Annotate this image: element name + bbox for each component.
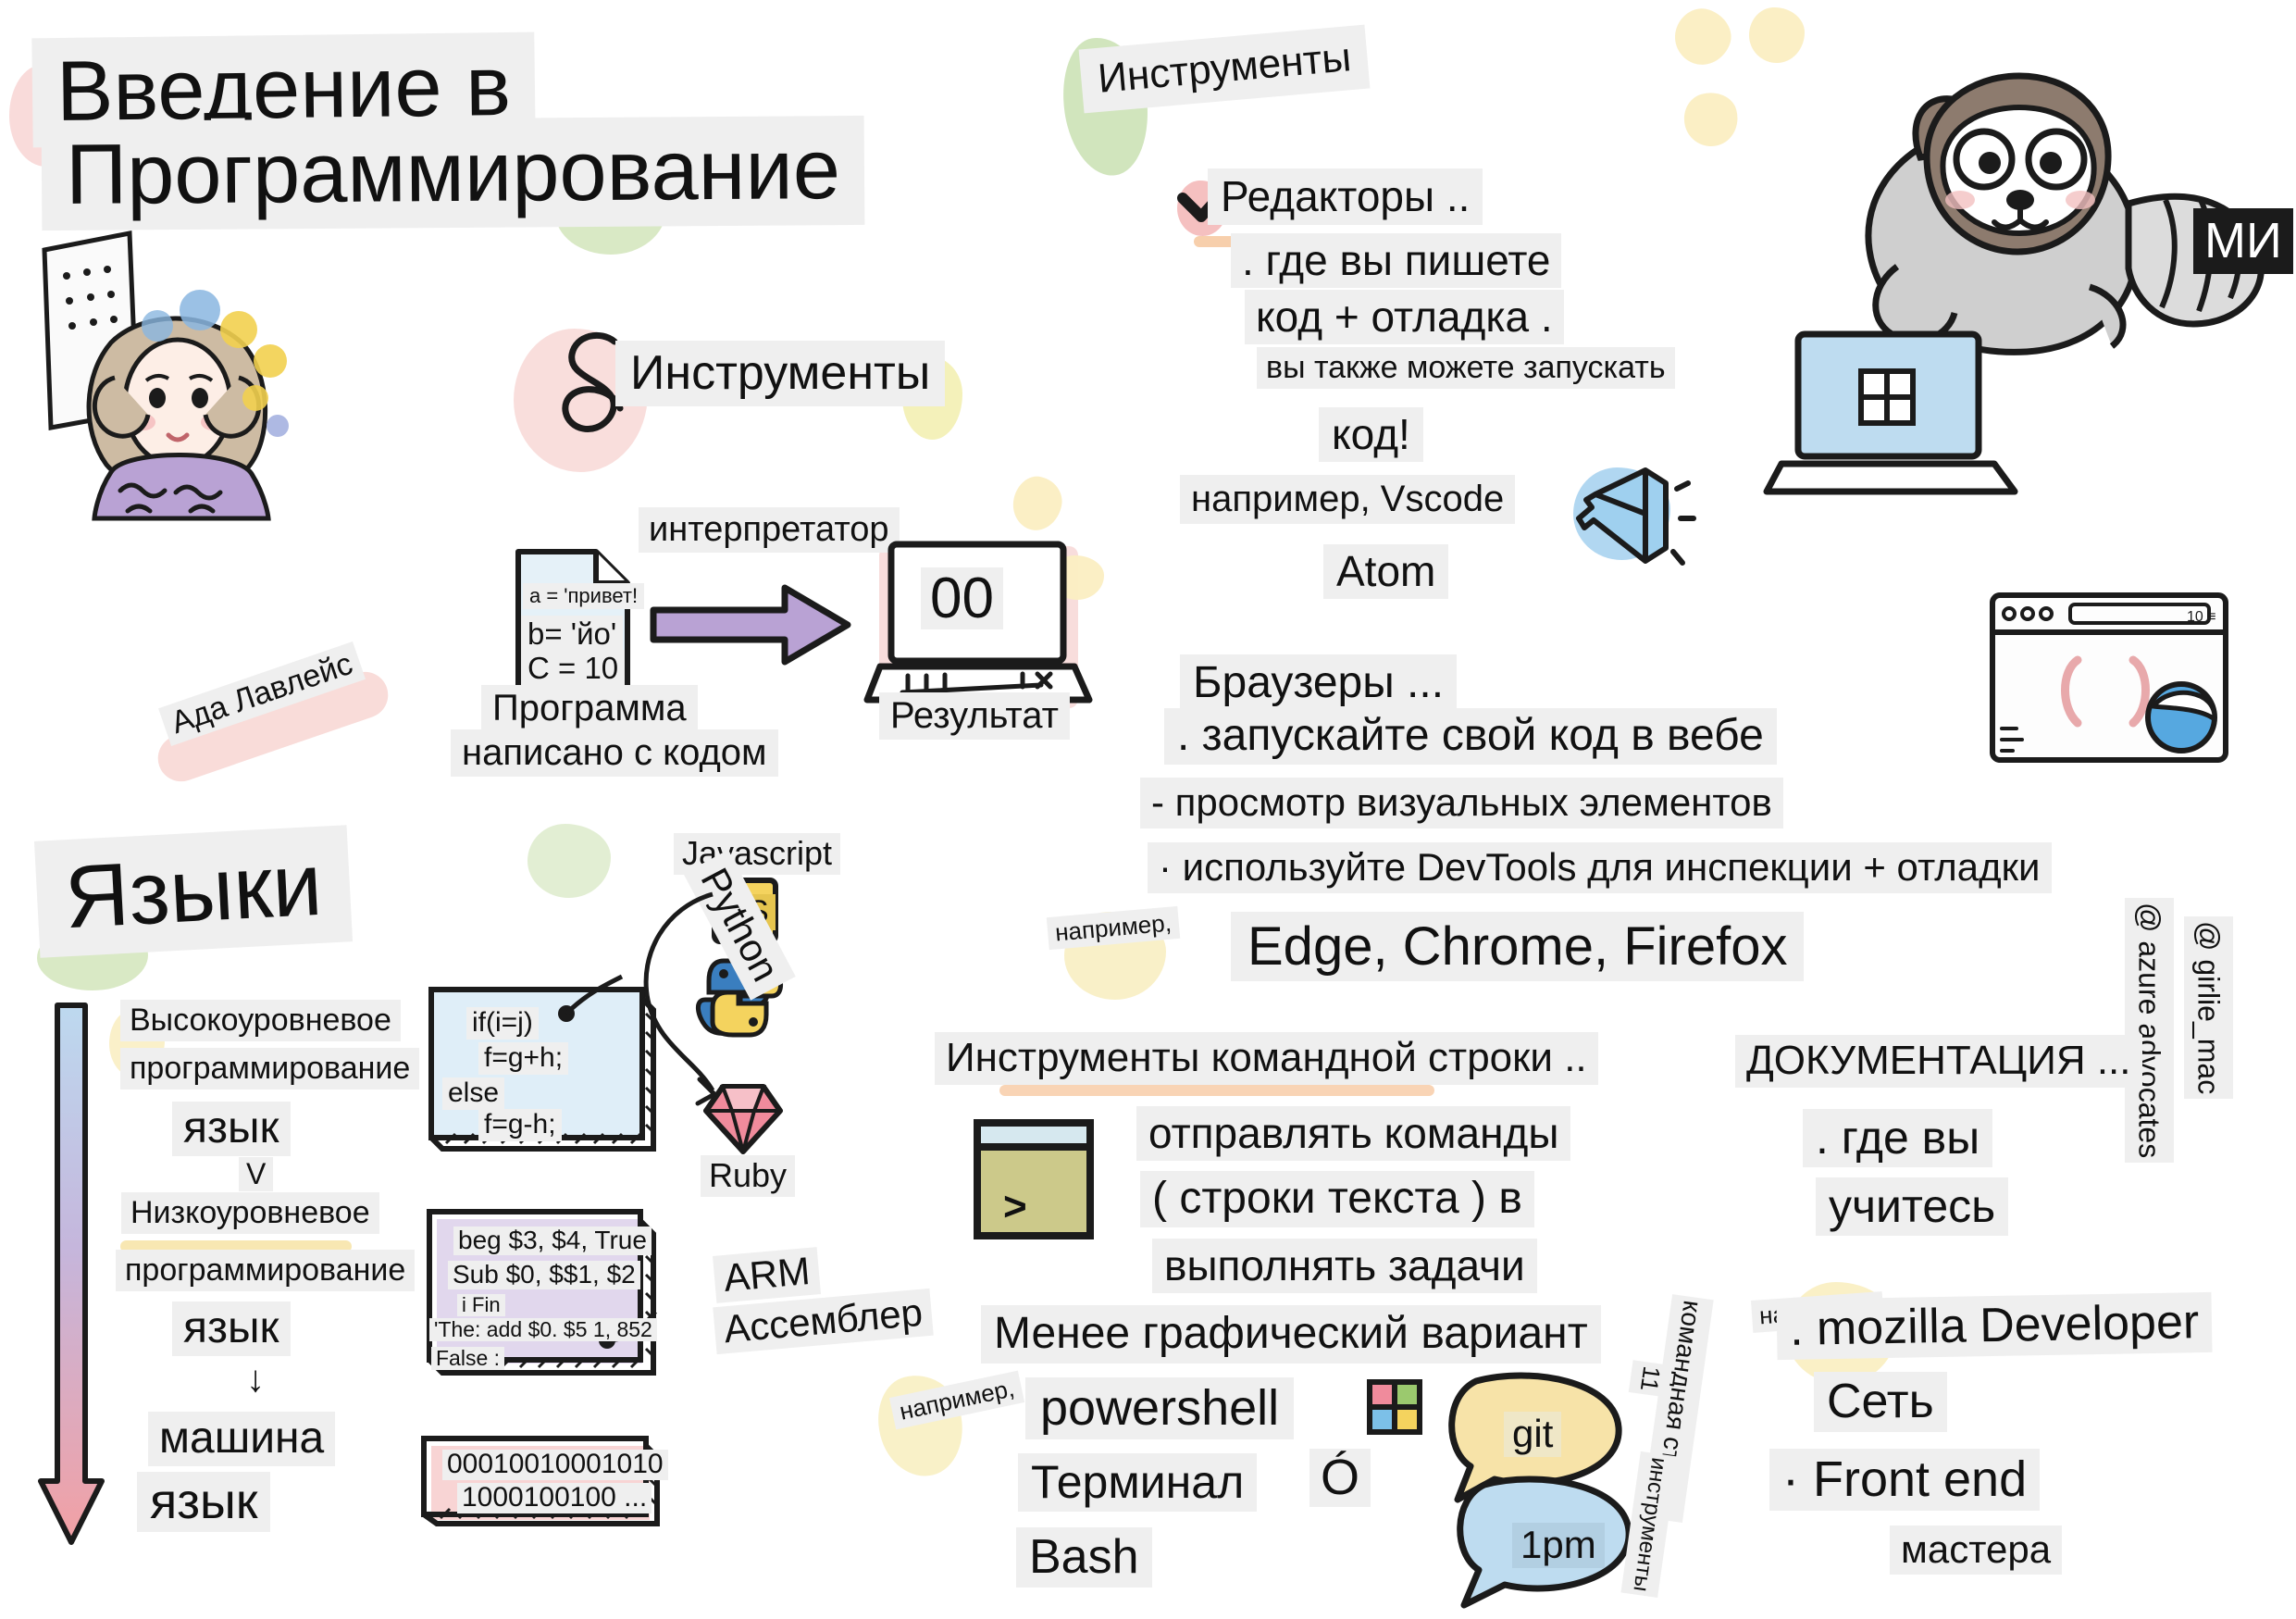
high-code-line-3: else: [442, 1077, 504, 1110]
yellow-spark-rc1: [1668, 2, 1739, 73]
tools-label-left: Инструменты: [615, 341, 945, 406]
high-code-line-1: if(i=j): [466, 1007, 539, 1040]
docs-example-frontend: · Front end: [1769, 1449, 2040, 1511]
infographic-canvas: Введение в Программирование: [0, 0, 2296, 1619]
machine-line2: язык: [137, 1472, 270, 1532]
low-level-line1: Низкоуровневое: [121, 1192, 379, 1234]
browser-window-icon: 10 ≡: [1985, 588, 2235, 768]
cli-example-powershell: powershell: [1025, 1377, 1294, 1439]
green-blob-langs2: [527, 824, 611, 898]
editors-example-vscode: например, Vscode: [1180, 475, 1515, 524]
raccoon-badge: МИ: [2193, 208, 2293, 274]
binary-code-line-1: 00010010001010: [442, 1450, 668, 1480]
interpreter-arrow-icon: [646, 579, 859, 671]
program-caption-line1: Программа: [481, 685, 698, 732]
level-arrow-down: ↓: [239, 1361, 272, 1399]
editors-title: Редакторы ..: [1208, 168, 1483, 225]
interpreter-label: интерпретатор: [639, 507, 900, 553]
machine-line1: машина: [148, 1412, 335, 1466]
cli-line-4: Менее графический вариант: [981, 1305, 1601, 1364]
asm-code-line-5: False :: [431, 1347, 504, 1370]
high-code-line-2: f=g+h;: [478, 1042, 568, 1075]
high-level-line3: язык: [172, 1102, 291, 1156]
yellow-spark-result1: [1009, 472, 1067, 535]
languages-heading: Языки: [34, 825, 353, 957]
asm-code-line-1: beg $3, $4, True: [453, 1227, 652, 1255]
credit-azure-advocates: @ azure advocates: [2125, 898, 2174, 1163]
docs-title: ДОКУМЕНТАЦИЯ ...: [1735, 1035, 2142, 1088]
cli-line-1: отправлять команды: [1136, 1106, 1570, 1161]
browsers-line-3: · используйте DevTools для инспекции + о…: [1148, 842, 2052, 893]
high-level-line1: Высокоуровневое: [120, 1000, 401, 1041]
tools-heading: Инструменты: [1079, 25, 1371, 114]
languages-connector-curve: [611, 889, 759, 1166]
browsers-examples: Edge, Chrome, Firefox: [1231, 912, 1804, 981]
browsers-title: Браузеры ...: [1180, 654, 1457, 713]
level-gradient-arrow-icon: [37, 1000, 111, 1555]
time-bubble-label: 1pm: [1512, 1523, 1605, 1568]
program-caption-line2: написано с кодом: [451, 729, 778, 777]
ada-lovelace-portrait: [19, 213, 324, 518]
svg-text:10 ≡: 10 ≡: [2187, 609, 2216, 625]
cli-vertical-label-2: 11: [1629, 1360, 1672, 1398]
level-arrow-v: V: [239, 1157, 273, 1191]
binary-code-line-2: 1000100100 ...: [457, 1483, 652, 1513]
asm-code-line-2: Sub $0, $$1, $2: [448, 1261, 640, 1289]
asm-code-line-3: i Fin: [457, 1294, 505, 1316]
raccoon-laptop-icon: [1772, 329, 2050, 495]
high-level-line2: программирование: [120, 1048, 419, 1090]
result-screen-value: 00: [921, 567, 1003, 629]
result-caption: Результат: [879, 692, 1070, 740]
browsers-line-1: . запускайте свой код в вебе: [1164, 708, 1777, 765]
high-code-line-4: f=g-h;: [478, 1109, 562, 1141]
editors-line-1: . где вы пишете: [1231, 233, 1561, 288]
docs-line-1: . где вы: [1803, 1109, 1992, 1167]
low-level-line3: язык: [172, 1301, 291, 1356]
terminal-prompt-glyph: >: [996, 1187, 1035, 1228]
browsers-line-2: - просмотр визуальных элементов: [1140, 778, 1783, 828]
cli-line-3: выполнять задачи: [1152, 1239, 1537, 1293]
orange-underline-cli: [999, 1085, 1434, 1096]
docs-example-mdn-2: Сеть: [1814, 1372, 1947, 1432]
cli-title: Инструменты командной строки ..: [935, 1032, 1598, 1085]
program-code-line-2: b= 'йо': [521, 616, 623, 653]
docs-example-mdn: . mozilla Developer: [1776, 1292, 2212, 1360]
asm-code-line-4: 'The: add $0. $5 1, 852: [429, 1318, 657, 1341]
windows-logo-icon: [1365, 1377, 1426, 1438]
mac-command-glyph: Ó: [1309, 1449, 1371, 1507]
docs-line-2: учитесь: [1816, 1177, 2008, 1236]
git-bubble-label: git: [1504, 1412, 1561, 1457]
program-code-line-3: C = 10: [521, 650, 625, 687]
editors-line-2: код + отладка .: [1245, 290, 1564, 344]
vscode-icon: [1573, 463, 1684, 569]
editors-line-4: код!: [1319, 407, 1423, 462]
low-level-line2: программирование: [116, 1250, 415, 1291]
editors-example-atom: Atom: [1323, 544, 1448, 599]
cli-line-2: ( строки текста ) в: [1140, 1171, 1534, 1227]
docs-example-masters: мастера: [1890, 1526, 2062, 1575]
cli-example-terminal: Терминал: [1018, 1453, 1257, 1512]
terminal-icon: [970, 1115, 1104, 1250]
arm-label-line1: ARM: [713, 1247, 821, 1303]
editors-line-3: вы также можете запускать: [1257, 347, 1675, 389]
cli-example-bash: Bash: [1016, 1527, 1152, 1588]
credit-girlie-mac: @ girlie_mac: [2184, 916, 2233, 1099]
yellow-spark-rc3: [1678, 86, 1744, 152]
program-code-line-1: a = 'привет!: [523, 583, 644, 609]
